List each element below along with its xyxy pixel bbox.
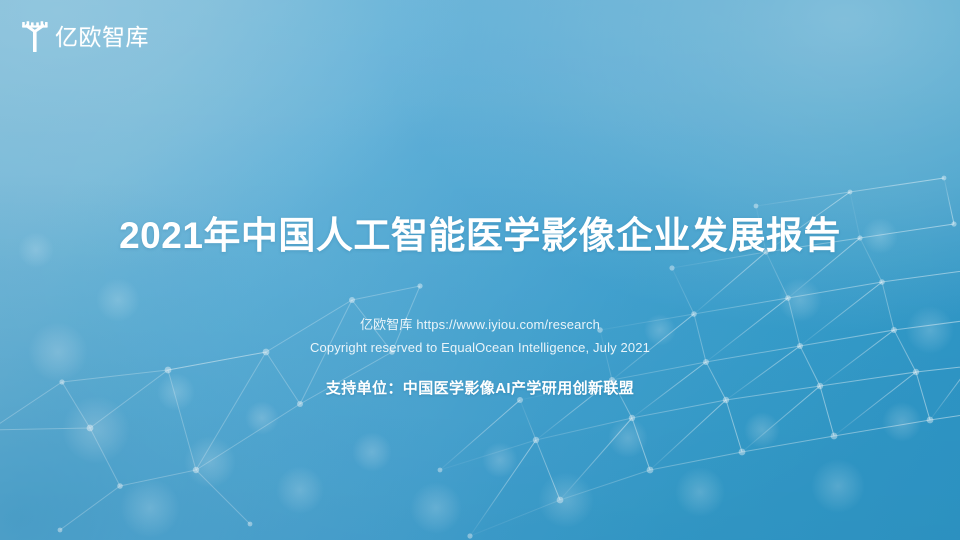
subtitle-source-line: 亿欧智库 https://www.iyiou.com/research bbox=[0, 313, 960, 336]
page-title: 2021年中国人工智能医学影像企业发展报告 bbox=[0, 216, 960, 257]
brand-logo[interactable]: 亿欧智库 bbox=[20, 18, 149, 56]
subtitle-group: 亿欧智库 https://www.iyiou.com/research Copy… bbox=[0, 313, 960, 359]
yi-ou-tree-icon bbox=[20, 21, 50, 53]
title-block: 2021年中国人工智能医学影像企业发展报告 亿欧智库 https://www.i… bbox=[0, 216, 960, 398]
support-organization-line: 支持单位：中国医学影像AI产学研用创新联盟 bbox=[0, 379, 960, 399]
brand-wordmark: 亿欧智库 bbox=[55, 26, 149, 49]
title-slide: 亿欧智库 2021年中国人工智能医学影像企业发展报告 亿欧智库 https://… bbox=[0, 0, 960, 540]
subtitle-copyright-line: Copyright reserved to EqualOcean Intelli… bbox=[0, 336, 960, 359]
